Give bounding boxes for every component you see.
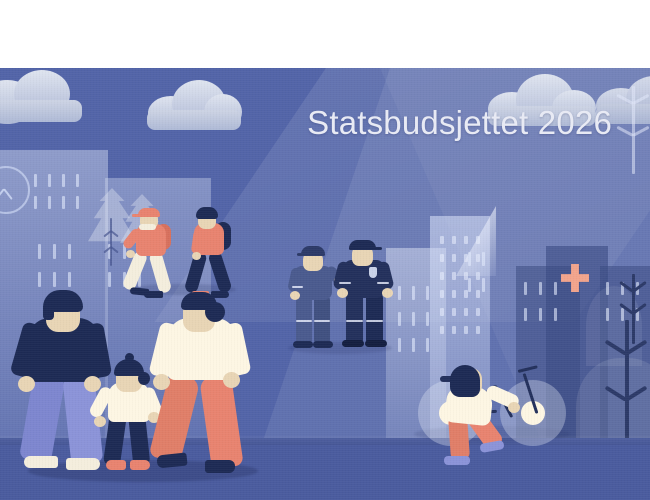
bare-tree-corner-trunk <box>625 320 629 440</box>
top-white-band <box>0 0 650 68</box>
reflective-stripe <box>339 282 351 284</box>
window-ticks-slim-pale <box>468 252 496 304</box>
cloud-center <box>146 80 242 128</box>
page-title: Statsbudsjettet 2026 <box>307 104 612 142</box>
figure-police-officer-right <box>336 240 398 346</box>
reflective-stripe <box>346 320 363 322</box>
illustration-stage: Statsbudsjettet 2026 <box>0 68 650 500</box>
reflective-stripe <box>314 320 330 322</box>
reflective-stripe <box>377 282 389 284</box>
fir-tree-1-trunk <box>110 218 112 266</box>
reflective-stripe <box>296 320 312 322</box>
reflective-stripe <box>292 286 303 288</box>
reflective-stripe <box>366 320 383 322</box>
figure-pedestrian-with-cap <box>126 208 186 298</box>
cloud-left-small <box>0 70 90 118</box>
weather-vane-icon <box>632 86 635 174</box>
window-ticks-hospital-left <box>524 282 569 334</box>
illustration-page: Statsbudsjettet 2026 <box>0 0 650 500</box>
figure-cyclist <box>432 368 532 484</box>
figure-pedestrian-with-backpack <box>185 208 245 298</box>
police-badge-icon <box>369 267 377 278</box>
figure-adult-right-cream-sweater <box>155 290 265 470</box>
window-ticks-left-a <box>34 174 90 218</box>
